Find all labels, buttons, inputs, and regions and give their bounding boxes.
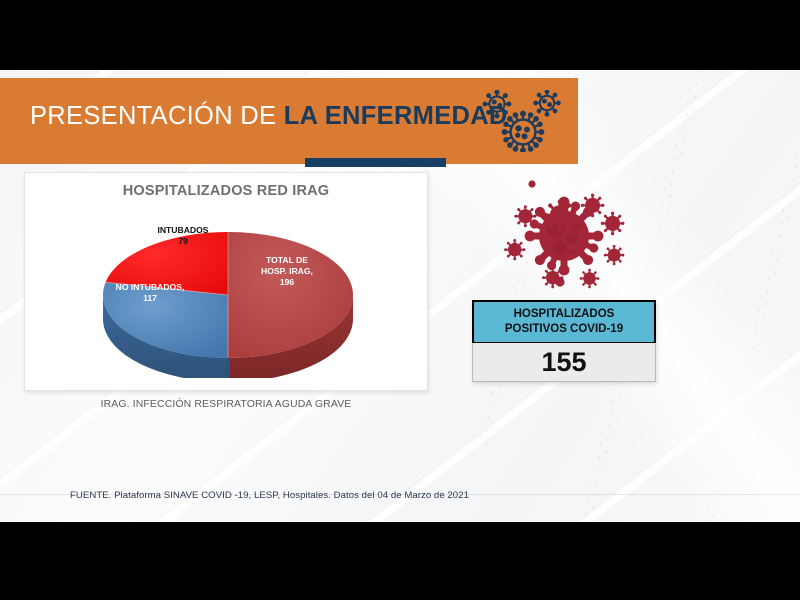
- header-virus-icon-group: [478, 90, 570, 152]
- header-accent-bar: [305, 158, 446, 167]
- header-virus-icons-svg: [478, 90, 570, 152]
- slide-header-banner: PRESENTACIÓN DE LA ENFERMEDAD: [0, 78, 578, 164]
- stat-callout-header: HOSPITALIZADOS POSITIVOS COVID-19: [472, 300, 656, 343]
- virus-icon-left: [484, 91, 511, 118]
- slide-title-regular: PRESENTACIÓN DE: [30, 102, 284, 130]
- footer-source-text: FUENTE. Plataforma SINAVE COVID -19, LES…: [70, 490, 469, 501]
- chart-caption: IRAG. INFECCIÓN RESPIRATORIA AGUDA GRAVE: [24, 398, 428, 410]
- slide-title-strong: LA ENFERMEDAD: [284, 102, 508, 130]
- presentation-slide: PRESENTACIÓN DE LA ENFERMEDAD: [0, 70, 800, 522]
- stat-callout-box: HOSPITALIZADOS POSITIVOS COVID-19 155: [472, 300, 656, 382]
- virus-icon-right: [534, 90, 559, 115]
- coronavirus-illustration-svg: [502, 178, 638, 294]
- chart-title: HOSPITALIZADOS RED IRAG: [25, 183, 427, 199]
- pie-center-wall: [226, 356, 230, 378]
- stat-callout-value: 155: [472, 343, 656, 382]
- chart-panel: HOSPITALIZADOS RED IRAG: [24, 172, 428, 391]
- stat-callout-header-line2: POSITIVOS COVID-19: [505, 322, 623, 337]
- slide-title: PRESENTACIÓN DE LA ENFERMEDAD: [30, 102, 508, 131]
- screenshot-stage: PRESENTACIÓN DE LA ENFERMEDAD: [0, 0, 800, 600]
- stat-callout-header-line1: HOSPITALIZADOS: [514, 307, 615, 322]
- virus-icon-main: [509, 181, 620, 292]
- virus-icon-center: [503, 112, 544, 152]
- pie-chart-svg: [83, 213, 373, 378]
- coronavirus-illustration: [502, 178, 638, 294]
- pie-chart: TOTAL DE HOSP. IRAG, 196 INTUBADOS 79 NO…: [83, 213, 373, 378]
